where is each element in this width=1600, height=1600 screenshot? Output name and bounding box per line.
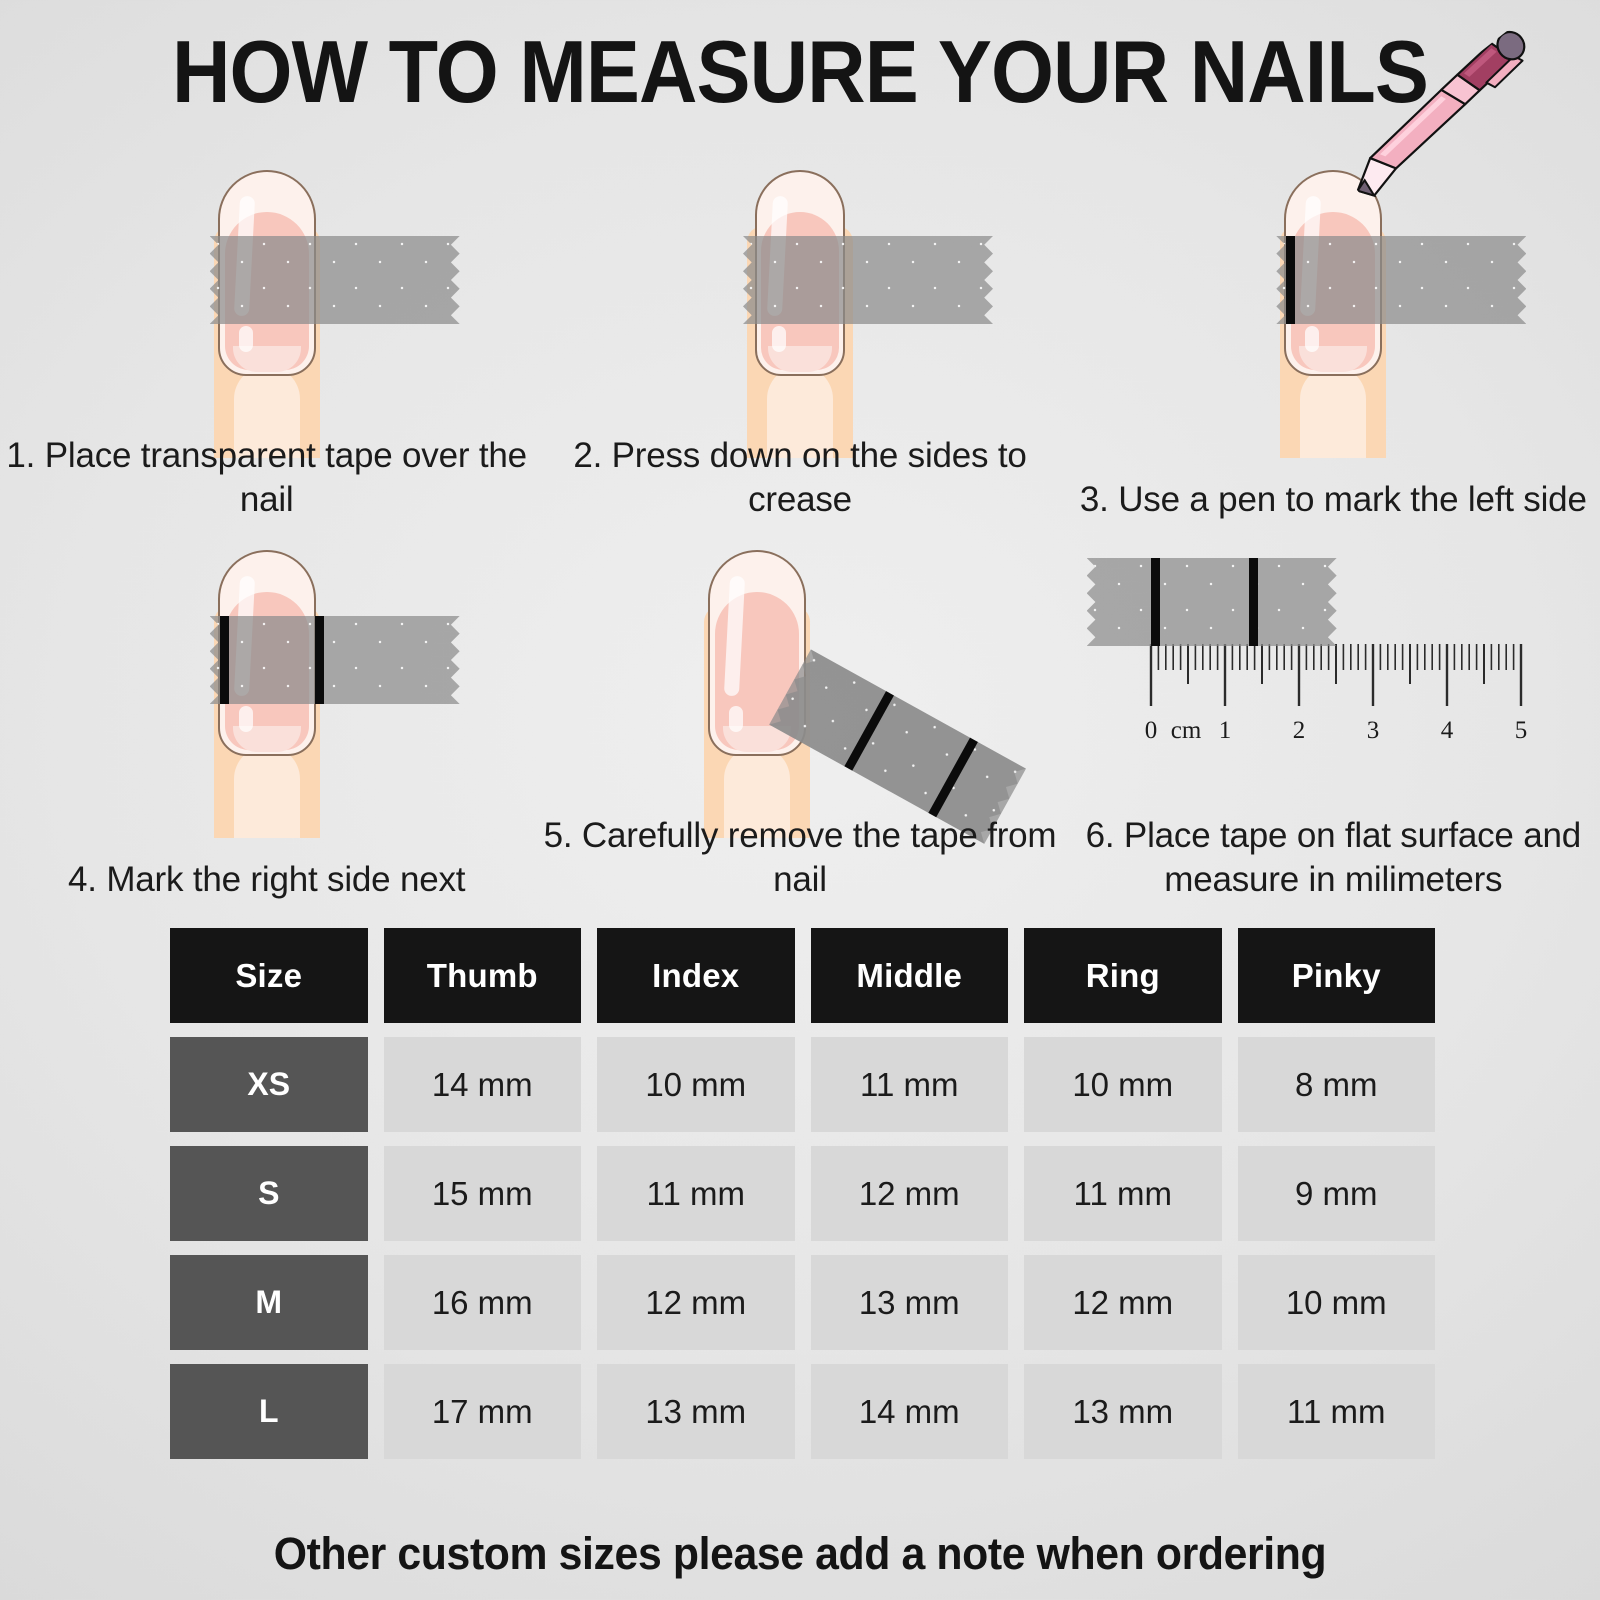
step-3-illustration: [1067, 150, 1600, 450]
table-cell: 13 mm: [597, 1364, 795, 1459]
step-1-caption: 1. Place transparent tape over the nail: [0, 434, 533, 522]
table-cell: 16 mm: [384, 1255, 582, 1350]
table-header-index: Index: [597, 928, 795, 1023]
custom-size-note: Other custom sizes please add a note whe…: [40, 1528, 1560, 1580]
step-2: 2. Press down on the sides to crease: [533, 150, 1066, 530]
table-cell: 12 mm: [1024, 1255, 1222, 1350]
table-cell: 15 mm: [384, 1146, 582, 1241]
nail-highlight-small-icon: [1305, 326, 1319, 352]
finger-illustration: [1258, 168, 1408, 458]
table-header-size: Size: [170, 928, 368, 1023]
table-cell: 17 mm: [384, 1364, 582, 1459]
table-cell: 10 mm: [1024, 1037, 1222, 1132]
table-cell: 10 mm: [597, 1037, 795, 1132]
finger-illustration: [192, 548, 342, 838]
right-pen-mark-icon: [1249, 558, 1258, 646]
left-pen-mark-icon: [220, 616, 229, 704]
table-cell: 12 mm: [811, 1146, 1009, 1241]
step-1: 1. Place transparent tape over the nail: [0, 150, 533, 530]
ruler-tick-2: 2: [1292, 717, 1305, 744]
step-5-caption: 5. Carefully remove the tape from nail: [533, 814, 1066, 902]
nail-highlight-small-icon: [729, 706, 743, 732]
left-pen-mark-icon: [1286, 236, 1295, 324]
ruler-tick-0: 0: [1144, 717, 1157, 744]
table-cell: 14 mm: [811, 1364, 1009, 1459]
size-label-xs: XS: [170, 1037, 368, 1132]
nail-highlight-small-icon: [239, 706, 253, 732]
table-header-pinky: Pinky: [1238, 928, 1436, 1023]
table-cell: 12 mm: [597, 1255, 795, 1350]
step-6-illustration: 012345cm: [1067, 530, 1600, 830]
step-6: 012345cm 6. Place tape on flat surface a…: [1067, 530, 1600, 910]
size-label-m: M: [170, 1255, 368, 1350]
table-cell: 11 mm: [1024, 1146, 1222, 1241]
table-cell: 11 mm: [597, 1146, 795, 1241]
step-3: 3. Use a pen to mark the left side: [1067, 150, 1600, 530]
step-5-illustration: [533, 530, 1066, 830]
table-cell: 9 mm: [1238, 1146, 1436, 1241]
transparent-tape-icon: [210, 616, 460, 704]
ruler-unit-label: cm: [1170, 717, 1201, 744]
step-1-illustration: [0, 150, 533, 450]
step-5: 5. Carefully remove the tape from nail: [533, 530, 1066, 910]
table-header-ring: Ring: [1024, 928, 1222, 1023]
step-4-caption: 4. Mark the right side next: [0, 858, 533, 902]
left-pen-mark-icon: [1151, 558, 1160, 646]
ruler-tick-5: 5: [1514, 717, 1527, 744]
transparent-tape-icon: [1276, 236, 1526, 324]
step-3-caption: 3. Use a pen to mark the left side: [1067, 478, 1600, 522]
finger-knuckle-shape: [234, 746, 300, 838]
ruler-tick-1: 1: [1218, 717, 1231, 744]
steps-grid: 1. Place transparent tape over the nail …: [0, 150, 1600, 910]
nail-highlight-small-icon: [239, 326, 253, 352]
ruler-tick-4: 4: [1440, 717, 1453, 744]
size-label-l: L: [170, 1364, 368, 1459]
step-6-caption: 6. Place tape on flat surface and measur…: [1067, 814, 1600, 902]
ruler-tick-3: 3: [1366, 717, 1379, 744]
table-cell: 11 mm: [1238, 1364, 1436, 1459]
finger-illustration: [682, 548, 832, 838]
table-header-middle: Middle: [811, 928, 1009, 1023]
ruler-icon: 012345cm: [1127, 642, 1557, 767]
finger-knuckle-shape: [1300, 366, 1366, 458]
table-cell: 13 mm: [1024, 1364, 1222, 1459]
table-cell: 13 mm: [811, 1255, 1009, 1350]
page-title: HOW TO MEASURE YOUR NAILS: [64, 28, 1536, 116]
finger-illustration: [192, 168, 342, 458]
finger-illustration-creased: [725, 168, 875, 458]
table-cell: 10 mm: [1238, 1255, 1436, 1350]
nail-highlight-small-icon: [772, 326, 786, 352]
table-cell: 8 mm: [1238, 1037, 1436, 1132]
table-header-thumb: Thumb: [384, 928, 582, 1023]
step-2-illustration: [533, 150, 1066, 450]
size-chart-table: SizeThumbIndexMiddleRingPinkyXS14 mm10 m…: [170, 928, 1435, 1459]
right-pen-mark-icon: [315, 616, 324, 704]
table-cell: 14 mm: [384, 1037, 582, 1132]
transparent-tape-icon: [743, 236, 993, 324]
transparent-tape-icon: [210, 236, 460, 324]
step-4-illustration: [0, 530, 533, 830]
step-2-caption: 2. Press down on the sides to crease: [533, 434, 1066, 522]
table-cell: 11 mm: [811, 1037, 1009, 1132]
size-label-s: S: [170, 1146, 368, 1241]
measured-tape-icon: [1087, 558, 1337, 646]
step-4: 4. Mark the right side next: [0, 530, 533, 910]
